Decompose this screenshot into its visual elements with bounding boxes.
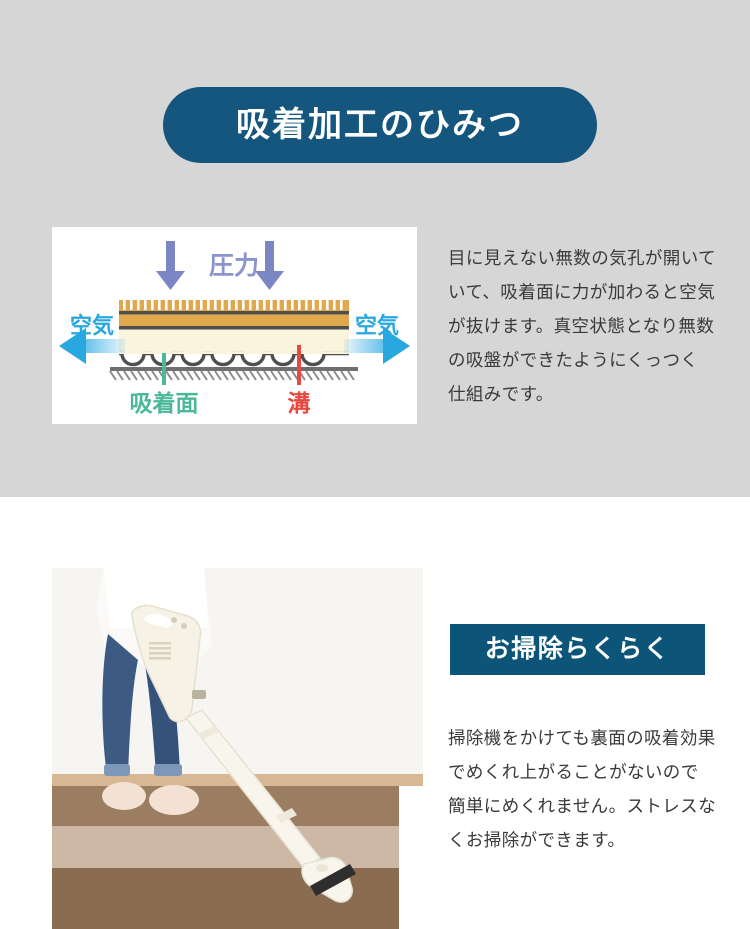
carpet-pile-layer (119, 298, 349, 326)
adhesion-diagram-card: 圧力 空気 空気 吸着面 溝 (52, 227, 417, 424)
pressure-arrow-right-icon (255, 241, 284, 290)
section-two-body-text: 掃除機をかけても裏面の吸着効果でめくれ上がることがないので簡単にめくれません。ス… (448, 721, 716, 857)
pressure-label: 圧力 (209, 252, 259, 280)
backing-layer (119, 330, 349, 354)
secret-of-adhesion-section: 吸着加工のひみつ (0, 0, 750, 497)
adhesion-surface-marker (162, 353, 166, 385)
groove-marker (297, 345, 301, 385)
section-two-heading-text: お掃除らくらく (485, 637, 671, 662)
section-two-heading-bar: お掃除らくらく (450, 624, 705, 675)
adhesion-surface-label: 吸着面 (130, 390, 199, 416)
adhesion-diagram: 圧力 空気 空気 吸着面 溝 (52, 227, 417, 424)
pressure-arrow-left-icon (156, 241, 185, 290)
pile-base-line (119, 326, 349, 330)
air-label-left: 空気 (70, 313, 114, 338)
section-one-heading-text: 吸着加工のひみつ (236, 108, 524, 142)
vacuum-photo-illustration (52, 568, 423, 929)
groove-label: 溝 (288, 390, 311, 416)
section-one-heading-pill: 吸着加工のひみつ (163, 87, 597, 163)
suction-bumps-layer (119, 354, 349, 365)
vacuum-cleaning-photo (52, 568, 423, 929)
floor-hatching (110, 371, 354, 380)
floor-line (110, 367, 358, 371)
air-label-right: 空気 (355, 313, 399, 338)
section-one-body-text: 目に見えない無数の気孔が開いていて、吸着面に力が加わると空気が抜けます。真空状態… (448, 241, 716, 411)
